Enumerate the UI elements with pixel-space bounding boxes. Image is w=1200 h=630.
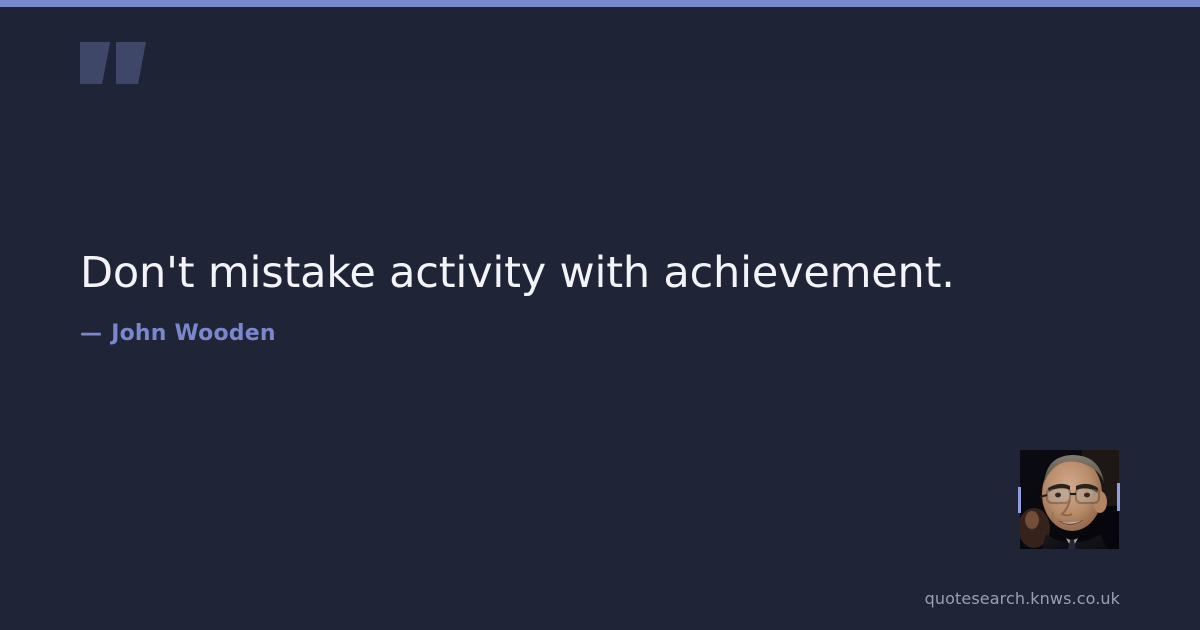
top-accent-bar [0,0,1200,7]
quote-card: Don't mistake activity with achievement.… [0,0,1200,630]
quote-text: Don't mistake activity with achievement. [80,248,1120,300]
source-url-label: quotesearch.knws.co.uk [925,589,1120,608]
author-portrait-image [1020,450,1119,549]
attribution-dash: — [80,321,102,346]
quotation-mark-icon [80,20,200,100]
portrait-edge-artifact-right [1117,483,1120,511]
author-name: John Wooden [111,321,276,346]
quote-block: Don't mistake activity with achievement.… [80,248,1120,346]
quote-attribution: —John Wooden [80,300,1120,346]
portrait-edge-artifact-left [1018,487,1021,513]
